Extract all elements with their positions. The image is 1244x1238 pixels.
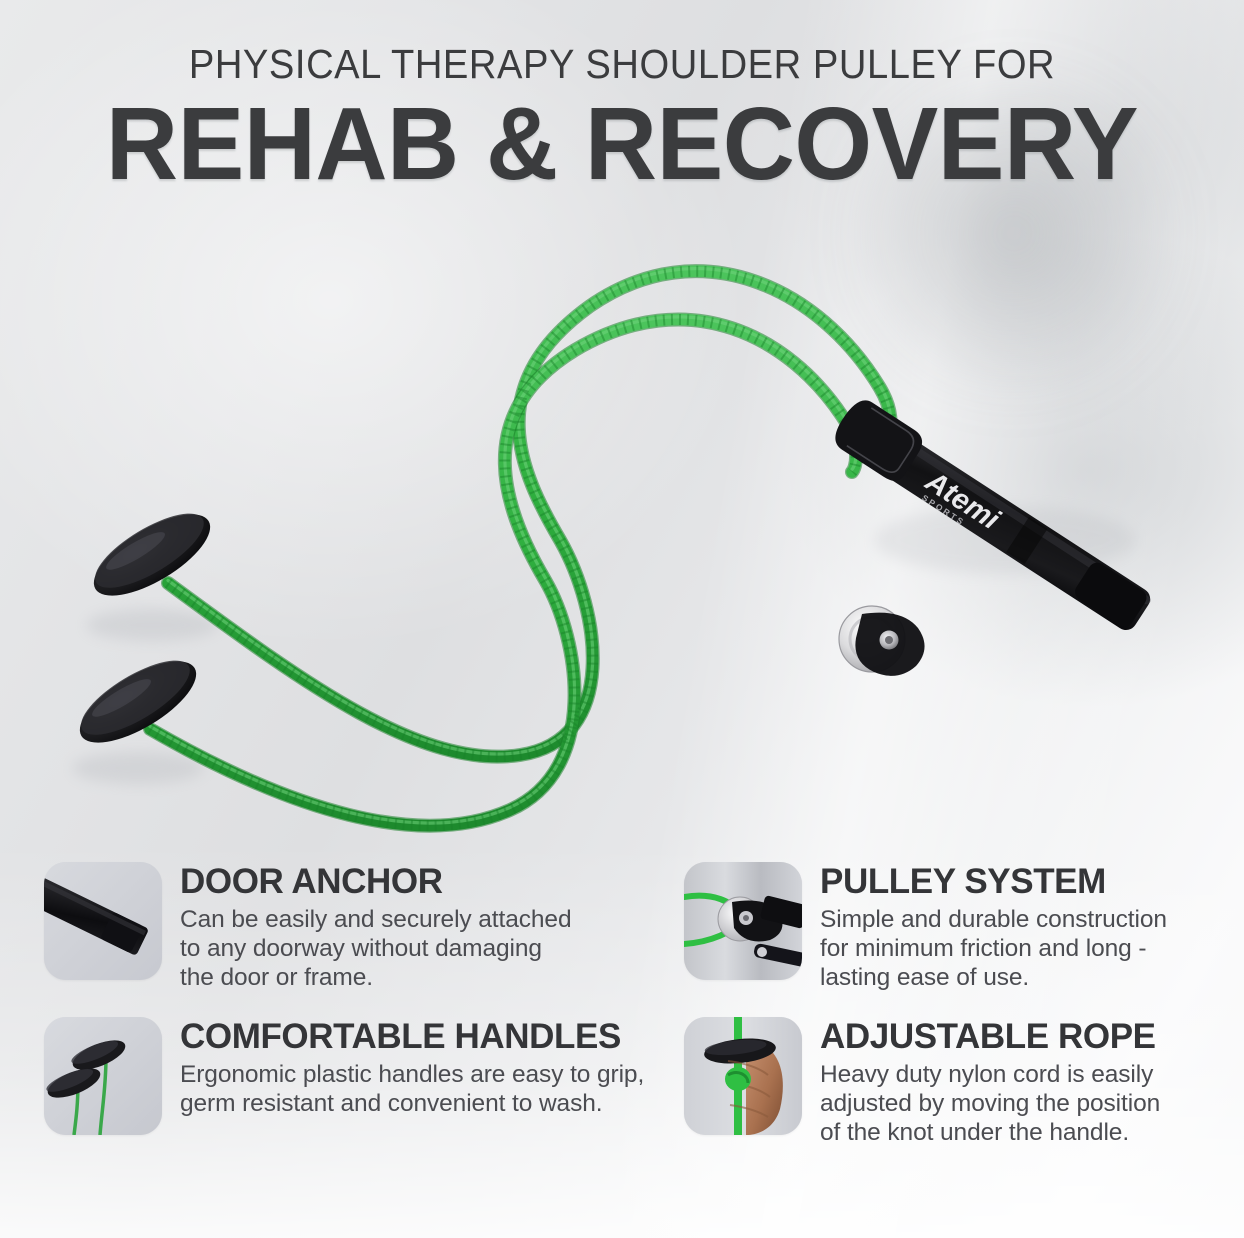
feature-pulley-system: PULLEY SYSTEM Simple and durable constru… xyxy=(684,862,1208,993)
feature-title: COMFORTABLE HANDLES xyxy=(180,1019,644,1055)
feature-text: ADJUSTABLE ROPE Heavy duty nylon cord is… xyxy=(820,1017,1160,1148)
header-kicker: PHYSICAL THERAPY SHOULDER PULLEY FOR xyxy=(44,44,1201,85)
door-anchor-thumbnail xyxy=(44,862,162,980)
desc-line: of the knot under the handle. xyxy=(820,1118,1160,1147)
feature-door-anchor: DOOR ANCHOR Can be easily and securely a… xyxy=(44,862,684,993)
feature-text: DOOR ANCHOR Can be easily and securely a… xyxy=(180,862,571,993)
desc-line: Ergonomic plastic handles are easy to gr… xyxy=(180,1060,644,1089)
feature-title: PULLEY SYSTEM xyxy=(820,864,1167,900)
desc-line: for minimum friction and long - xyxy=(820,934,1167,963)
feature-title: DOOR ANCHOR xyxy=(180,864,571,900)
feature-adjustable-rope: ADJUSTABLE ROPE Heavy duty nylon cord is… xyxy=(684,1017,1208,1148)
comfortable-handles-thumbnail xyxy=(44,1017,162,1135)
desc-line: germ resistant and convenient to wash. xyxy=(180,1089,644,1118)
handle-upper xyxy=(82,499,222,612)
rope-cord xyxy=(150,269,891,826)
header: PHYSICAL THERAPY SHOULDER PULLEY FOR REH… xyxy=(0,44,1244,194)
handle-shadow-lower xyxy=(72,752,204,784)
desc-line: Heavy duty nylon cord is easily xyxy=(820,1060,1160,1089)
adjustable-rope-thumbnail xyxy=(684,1017,802,1135)
feature-description: Simple and durable construction for mini… xyxy=(820,905,1167,993)
desc-line: Simple and durable construction xyxy=(820,905,1167,934)
product-infographic: PHYSICAL THERAPY SHOULDER PULLEY FOR REH… xyxy=(0,0,1244,1238)
product-hero-image: Atemi SPORTS xyxy=(0,210,1244,850)
desc-line: lasting ease of use. xyxy=(820,963,1167,992)
feature-comfortable-handles: COMFORTABLE HANDLES Ergonomic plastic ha… xyxy=(44,1017,684,1148)
pulley-system-thumbnail xyxy=(684,862,802,980)
desc-line: the door or frame. xyxy=(180,963,571,992)
desc-line: adjusted by moving the position xyxy=(820,1089,1160,1118)
header-headline: REHAB & RECOVERY xyxy=(19,94,1226,194)
desc-line: to any doorway without damaging xyxy=(180,934,571,963)
feature-list: DOOR ANCHOR Can be easily and securely a… xyxy=(44,862,1208,1148)
feature-text: COMFORTABLE HANDLES Ergonomic plastic ha… xyxy=(180,1017,644,1118)
feature-title: ADJUSTABLE ROPE xyxy=(820,1019,1160,1055)
handle-lower xyxy=(68,646,208,759)
feature-text: PULLEY SYSTEM Simple and durable constru… xyxy=(820,862,1167,993)
feature-description: Ergonomic plastic handles are easy to gr… xyxy=(180,1060,644,1119)
desc-line: Can be easily and securely attached xyxy=(180,905,571,934)
feature-description: Heavy duty nylon cord is easily adjusted… xyxy=(820,1060,1160,1148)
feature-description: Can be easily and securely attached to a… xyxy=(180,905,571,993)
